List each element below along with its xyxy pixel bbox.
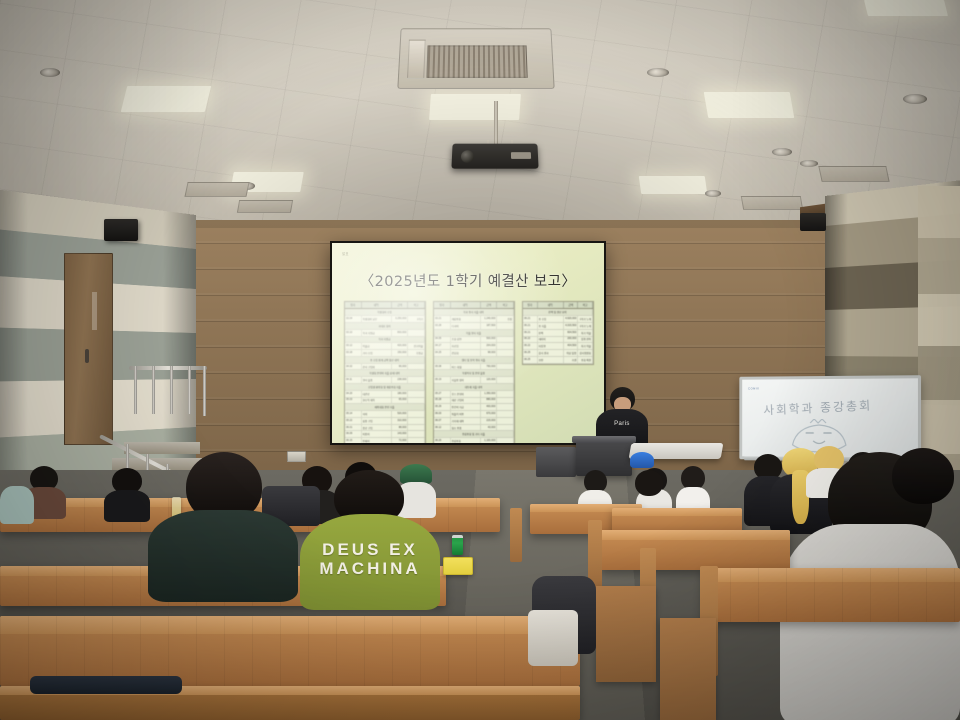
table-cell: 143,000 — [392, 431, 409, 437]
table-cell: 06.01 — [345, 425, 362, 431]
table-cell: 05.03 — [345, 398, 362, 404]
table-cell — [408, 364, 425, 370]
table-row: 06.25감사 결과이상 없음감사위원회 — [523, 350, 593, 357]
table-cell: 200,000 — [564, 337, 579, 343]
table-cell: 06.03 — [434, 411, 451, 417]
table-cell — [497, 337, 514, 343]
column-header: 일자 — [523, 302, 538, 308]
table-cell: 대관료 — [362, 391, 392, 397]
table-cell: 재료 구입비 — [451, 398, 481, 404]
handbag — [528, 610, 578, 666]
table-cell: 주점 — [497, 316, 514, 322]
student-head — [635, 470, 663, 496]
table-cell: 부스 운영비 — [451, 391, 481, 397]
table-cell — [497, 323, 514, 329]
table-cell: 06.21 — [523, 323, 538, 329]
table-cell: 차기 이월 — [578, 330, 593, 336]
table-cell: 다과비 — [451, 323, 481, 329]
table-row: 학과 행사 지출 내역 — [434, 309, 514, 316]
section-label: 대동제 지출 내역 — [434, 384, 514, 390]
column-header: 내역 — [451, 302, 481, 308]
table-cell: 학생회비 납부 — [362, 316, 392, 322]
student-torso — [148, 510, 298, 602]
table-cell — [497, 411, 514, 417]
table-cell: 05.14 — [345, 411, 362, 417]
table-cell: 상품 구입 — [362, 418, 392, 424]
table-row: 05.19사물함 정비120,000 — [434, 377, 514, 384]
table-row: 06.22미집행404,500차기 이월 — [523, 343, 593, 350]
desk-divider — [510, 508, 522, 562]
table-cell: 03.12 — [345, 343, 362, 349]
table-cell: 06.22 — [523, 337, 538, 343]
table-cell: 총회 의결 — [578, 357, 593, 363]
table-row: 03.21개강총회1,240,000주점 — [434, 316, 514, 323]
table-cell: 03.18 — [345, 350, 362, 356]
table-cell: 자료집 — [451, 343, 481, 349]
table-row: 엠티 및 친목 행사 지출 — [434, 357, 514, 364]
table-row: 06.21총 지출4,015,5001학기 누계 — [523, 323, 593, 330]
table-cell: 기자재 대여 — [451, 418, 481, 424]
table-cell: 초청 강연 — [451, 337, 481, 343]
upper-rail-post — [188, 366, 191, 414]
door-handle[interactable] — [85, 349, 89, 363]
table-cell: 집행 잔여 — [578, 337, 593, 343]
table-cell: 06.15 — [345, 438, 362, 443]
table-cell — [408, 431, 425, 437]
table-cell — [497, 398, 514, 404]
student-head — [892, 448, 954, 504]
table-cell — [497, 391, 514, 397]
table-cell — [497, 377, 514, 383]
table-row: 06.01음료 구입88,000 — [345, 425, 425, 432]
table-cell — [408, 411, 425, 417]
table-cell: 520,000 — [392, 411, 409, 417]
snack-box — [443, 557, 473, 575]
table-cell: 06.07 — [434, 418, 451, 424]
column-header: 비고 — [408, 302, 425, 308]
table-cell: 종강총회 — [451, 438, 481, 443]
table-row: 05.28재료 구입비880,000 — [434, 398, 514, 405]
column-header: 비고 — [578, 302, 593, 308]
table-row: 03.10학과 지원금800,000 — [345, 330, 425, 337]
column-header: 금액 — [392, 302, 409, 308]
table-cell: 06.21 — [523, 316, 538, 322]
table-cell: 1학기 누계 — [578, 316, 593, 322]
table-cell: 행사 물품 — [362, 377, 392, 383]
table-cell: 감사 결과 — [538, 350, 564, 356]
table-cell: 187,500 — [481, 323, 498, 329]
shirt-text: DEUS EX MACHINA — [306, 540, 434, 578]
table-cell: 238,000 — [392, 377, 409, 383]
upper-rail-post — [170, 366, 173, 414]
table-header-row: 일자내역금액비고 — [523, 302, 593, 309]
table-cell: 150,000 — [392, 350, 409, 356]
table-cell: 06.12 — [434, 425, 451, 431]
table-cell: 1,240,000 — [481, 316, 498, 322]
table-cell: 04.25 — [434, 350, 451, 356]
table-cell: 3,250,000 — [392, 316, 409, 322]
table-cell: 06.20 — [434, 438, 451, 443]
table-cell: 4,015,500 — [564, 323, 579, 329]
table-cell: 인건비 지급 — [451, 404, 481, 410]
table-row: 06.15인쇄비72,000 — [345, 438, 425, 443]
can-top — [452, 535, 463, 538]
student-torso — [0, 486, 34, 524]
table-cell: 뒤풀이 비용 — [451, 411, 481, 417]
table-cell — [497, 343, 514, 349]
table-cell: 현수막 제작 — [362, 398, 392, 404]
beverage-can — [452, 535, 463, 555]
column-header: 금액 — [564, 302, 579, 308]
column-header: 일자 — [434, 302, 451, 308]
desk-side-panel — [660, 618, 716, 720]
student — [148, 452, 298, 598]
table-cell: 03.04 — [345, 316, 362, 322]
table-cell: 05.27 — [434, 391, 451, 397]
table-row: 학생회비 수입 — [345, 309, 425, 316]
table-cell: 1,350,000 — [481, 391, 498, 397]
upper-rail-post — [203, 366, 206, 416]
slide-title: 〈2025년도 1학기 예결산 보고〉 — [332, 270, 604, 291]
ceiling — [0, 0, 960, 236]
table-row: 03.28다과비187,500 — [434, 323, 514, 330]
section-label: 과대표 회비 — [345, 323, 425, 329]
budget-table-left: 일자내역금액비고학생회비 수입03.04학생회비 납부3,250,0001학기과… — [344, 301, 426, 443]
projector-label — [511, 152, 531, 159]
table-cell — [408, 377, 425, 383]
section-label: 체육대회 운영 지출 — [345, 404, 425, 410]
section-label: 엠티 및 친목 행사 지출 — [434, 357, 514, 363]
table-cell: 04.17 — [434, 343, 451, 349]
table-cell: 65,000 — [392, 398, 409, 404]
bench-surface — [600, 530, 790, 540]
desk-side-panel — [596, 586, 656, 682]
table-cell: 감사위원회 — [578, 350, 593, 356]
table-header-row: 일자내역금액비고 — [434, 302, 514, 309]
table-cell: 180,000 — [392, 391, 409, 397]
table-row: 04.02간식 구입비96,000 — [345, 364, 425, 371]
table-cell: 98,000 — [481, 350, 498, 356]
table-cell: 잔액 — [538, 330, 564, 336]
student-green-shirt: DEUS EX MACHINA — [300, 470, 440, 606]
table-cell: 04.11 — [345, 377, 362, 383]
table-cell: 06.25 — [523, 350, 538, 356]
section-label: 학생회비 수입 — [345, 309, 425, 315]
table-cell: 04.02 — [345, 364, 362, 370]
table-cell: 06.22 — [523, 343, 538, 349]
table-cell: 간식 구입비 — [362, 364, 392, 370]
ceiling-shading — [0, 0, 960, 236]
table-cell — [408, 391, 425, 397]
table-cell: 96,000 — [392, 364, 409, 370]
whiteboard-brand-label: COMIX — [748, 386, 759, 390]
blue-cap-icon — [630, 452, 654, 468]
table-row: 06.12청소 용품43,000 — [434, 425, 514, 432]
table-row: 05.27부스 운영비1,350,000 — [434, 391, 514, 398]
table-cell: 이상 없음 — [564, 350, 579, 356]
table-cell: 총 수입 — [538, 316, 564, 322]
table-row: 대동제 지출 내역 — [434, 384, 514, 391]
table-row: 06.21총 수입4,620,0001학기 누계 — [523, 316, 593, 323]
section-label: 총 수입 합계 금액 정산 내역 — [345, 357, 425, 363]
table-row: 신입생 환영회 및 개강총회 지출 — [345, 384, 425, 391]
table-row: 04.20대관료180,000 — [345, 391, 425, 398]
table-cell: 개강총회 — [451, 316, 481, 322]
table-row: 04.11행사 물품238,000 — [345, 377, 425, 384]
table-cell — [497, 438, 514, 443]
podium-top — [572, 436, 636, 443]
upper-handrail[interactable] — [129, 366, 207, 370]
student — [0, 478, 34, 522]
table-row: 종강총회 및 기타 지출 — [434, 431, 514, 438]
table-cell — [497, 425, 514, 431]
table-cell: 06.25 — [523, 357, 538, 363]
table-cell: 72,000 — [392, 438, 409, 443]
table-cell: 03.10 — [345, 330, 362, 336]
table-cell: 03.21 — [434, 316, 451, 322]
table-row: 05.29인건비 지급400,000 — [434, 404, 514, 411]
student — [630, 470, 670, 528]
table-cell: 식비 — [362, 411, 392, 417]
table-row: 총 수입 합계 금액 정산 내역 — [345, 357, 425, 364]
upper-rail-post — [152, 366, 155, 414]
table-row: 06.25승인가결총회 의결 — [523, 357, 593, 364]
table-cell: 04.05 — [434, 337, 451, 343]
table-row: 06.03뒤풀이 비용670,000 — [434, 411, 514, 418]
table-cell: 215,000 — [481, 418, 498, 424]
table-row: 학과 지원금 — [345, 337, 425, 344]
column-header: 일자 — [345, 302, 362, 308]
table-row: 04.25간담회98,000 — [434, 350, 514, 357]
wall-speaker-left — [104, 219, 138, 241]
table-cell: 청소 용품 — [451, 425, 481, 431]
right-wall-column — [918, 186, 960, 486]
table-cell: 예비비 — [538, 337, 564, 343]
section-label: 학과 지원금 — [345, 337, 425, 343]
table-cell: 06.09 — [345, 431, 362, 437]
table-cell: 1학기 누계 — [578, 323, 593, 329]
table-row: 과대표 회비 — [345, 323, 425, 330]
projector-lens — [461, 150, 474, 163]
slide-tables: 일자내역금액비고학생회비 수입03.04학생회비 납부3,250,0001학기과… — [344, 301, 594, 443]
bench-desk-row — [702, 568, 960, 622]
table-cell: 비품비 — [362, 431, 392, 437]
table-cell — [497, 364, 514, 370]
table-row: 05.22상품 구입310,000 — [345, 418, 425, 425]
table-cell: 이월금 — [362, 343, 392, 349]
door-kick-plate — [92, 292, 97, 330]
table-cell: 버스 대절 — [451, 364, 481, 370]
table-cell: 사물함 정비 — [451, 377, 481, 383]
table-cell: 05.19 — [434, 377, 451, 383]
table-row: 05.14식비520,000 — [345, 411, 425, 418]
wall-speaker-right — [800, 213, 826, 231]
table-row: 06.07기자재 대여215,000 — [434, 418, 514, 425]
av-equipment-box — [536, 447, 576, 477]
table-cell: 88,000 — [392, 425, 409, 431]
table-cell: 04.20 — [345, 391, 362, 397]
upper-rail-post — [134, 366, 137, 414]
table-cell — [408, 425, 425, 431]
table-row: 학술 행사 지출 — [434, 330, 514, 337]
table-cell — [497, 418, 514, 424]
section-label: 학과 행사 지출 내역 — [434, 309, 514, 315]
table-cell: 전기이월 — [408, 343, 425, 349]
table-cell: 760,000 — [481, 364, 498, 370]
table-cell: 1학기 — [408, 316, 425, 322]
section-label: 종강총회 및 기타 지출 — [434, 431, 514, 437]
table-cell: 가결 — [564, 357, 579, 363]
table-row: 03.04학생회비 납부3,250,0001학기 — [345, 316, 425, 323]
table-header-row: 일자내역금액비고 — [345, 302, 425, 309]
table-row: 06.22예비비200,000집행 잔여 — [523, 337, 593, 344]
table-cell — [408, 438, 425, 443]
table-row: 학생회 운영비 지출 상세 내역 — [345, 370, 425, 377]
table-cell: 43,000 — [481, 425, 498, 431]
table-cell: 인쇄비 — [362, 438, 392, 443]
table-row: 05.03현수막 제작65,000 — [345, 398, 425, 405]
table-cell: 670,000 — [481, 411, 498, 417]
section-label: 신입생 환영회 및 개강총회 지출 — [345, 384, 425, 390]
column-header: 내역 — [362, 302, 392, 308]
table-row: 05.08버스 대절760,000 — [434, 364, 514, 371]
table-cell: 310,000 — [392, 418, 409, 424]
slide-corner-mark: 발표 — [342, 251, 349, 256]
bench-desk-row — [600, 530, 790, 570]
table-row: 학생복지 및 운영 물품 — [434, 370, 514, 377]
column-header: 금액 — [481, 302, 498, 308]
table-cell: 음료 구입 — [362, 425, 392, 431]
table-cell: 기타 수입 — [362, 350, 392, 356]
table-cell: 420,000 — [392, 343, 409, 349]
table-cell: 264,000 — [481, 343, 498, 349]
seat-cushion — [30, 676, 182, 694]
table-cell: 400,000 — [481, 404, 498, 410]
table-row: 04.05초청 강연500,000 — [434, 337, 514, 344]
budget-table-center: 일자내역금액비고학과 행사 지출 내역03.21개강총회1,240,000주점0… — [433, 301, 515, 443]
table-row: 잔액 및 결산 요약 — [523, 309, 593, 316]
section-label: 학생복지 및 운영 물품 — [434, 370, 514, 376]
table-row: 03.12이월금420,000전기이월 — [345, 343, 425, 350]
student — [882, 448, 960, 544]
table-cell — [408, 398, 425, 404]
table-cell: 05.29 — [434, 404, 451, 410]
student — [104, 468, 150, 518]
projection-screen: 발표 〈2025년도 1학기 예결산 보고〉 일자내역금액비고학생회비 수입03… — [330, 241, 606, 445]
table-cell: 604,500 — [564, 330, 579, 336]
table-cell: 간담회 — [451, 350, 481, 356]
table-cell: 05.22 — [345, 418, 362, 424]
student-hoodie — [780, 524, 960, 720]
table-cell: 500,000 — [481, 337, 498, 343]
table-cell: 05.08 — [434, 364, 451, 370]
table-row: 06.09비품비143,000 — [345, 431, 425, 438]
table-cell: 03.28 — [434, 323, 451, 329]
table-cell: 미집행 — [538, 343, 564, 349]
bench-grain — [702, 568, 960, 622]
table-cell — [408, 418, 425, 424]
table-cell: 승인 — [538, 357, 564, 363]
table-cell: 404,500 — [564, 343, 579, 349]
table-row: 03.18기타 수입150,000후원금 — [345, 350, 425, 357]
table-cell: 차기 이월 — [578, 343, 593, 349]
table-cell: 06.21 — [523, 330, 538, 336]
table-cell: 4,620,000 — [564, 316, 579, 322]
table-cell: 1,100,000 — [481, 438, 498, 443]
whiteboard-handwriting: 사회학과 종강총회 — [763, 396, 872, 418]
column-header: 내역 — [538, 302, 564, 308]
table-cell: 후원금 — [408, 350, 425, 356]
lecture-hall-photo: 발표 〈2025년도 1학기 예결산 보고〉 일자내역금액비고학생회비 수입03… — [0, 0, 960, 720]
budget-table-right: 일자내역금액비고잔액 및 결산 요약06.21총 수입4,620,0001학기 … — [522, 301, 594, 365]
table-row: 체육대회 운영 지출 — [345, 404, 425, 411]
section-label: 학술 행사 지출 — [434, 330, 514, 336]
table-cell — [497, 404, 514, 410]
ceiling-projector — [451, 144, 538, 169]
table-cell: 학과 지원금 — [362, 330, 392, 336]
table-row: 06.20종강총회1,100,000 — [434, 438, 514, 443]
presenter-shirt-text: Paris — [596, 421, 648, 427]
section-label: 학생회 운영비 지출 상세 내역 — [345, 370, 425, 376]
projected-slide: 발표 〈2025년도 1학기 예결산 보고〉 일자내역금액비고학생회비 수입03… — [332, 243, 604, 443]
table-row: 06.21잔액604,500차기 이월 — [523, 330, 593, 337]
table-cell — [408, 330, 425, 336]
table-cell: 05.28 — [434, 398, 451, 404]
table-cell: 880,000 — [481, 398, 498, 404]
student-torso — [104, 490, 150, 522]
section-label: 잔액 및 결산 요약 — [523, 309, 593, 315]
table-cell: 총 지출 — [538, 323, 564, 329]
table-row: 04.17자료집264,000 — [434, 343, 514, 350]
column-header: 비고 — [497, 302, 514, 308]
table-cell — [497, 350, 514, 356]
table-cell: 800,000 — [392, 330, 409, 336]
rear-door[interactable] — [64, 253, 113, 445]
table-cell: 120,000 — [481, 377, 498, 383]
